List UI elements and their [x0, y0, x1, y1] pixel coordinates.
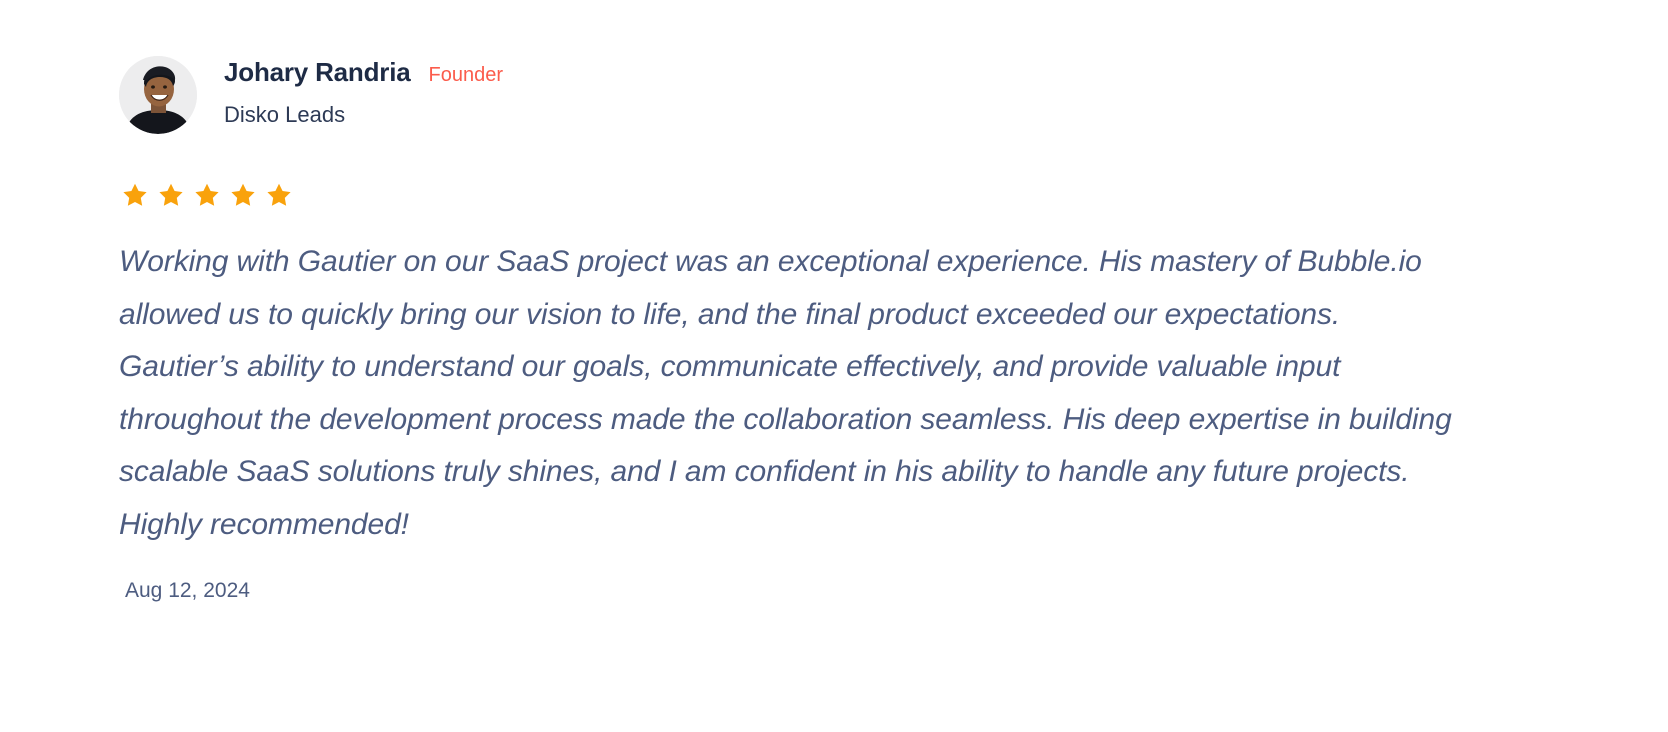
star-icon	[158, 182, 184, 208]
review-date: Aug 12, 2024	[125, 578, 250, 603]
name-row: Johary Randria Founder	[224, 58, 503, 87]
star-icon	[194, 182, 220, 208]
star-icon	[266, 182, 292, 208]
reviewer-company: Disko Leads	[224, 103, 503, 127]
reviewer-name: Johary Randria	[224, 58, 411, 87]
star-rating	[122, 182, 292, 208]
star-icon	[122, 182, 148, 208]
testimonial-card: Johary Randria Founder Disko Leads Worki…	[0, 0, 1668, 732]
avatar	[119, 56, 197, 134]
reviewer-role: Founder	[429, 64, 504, 86]
reviewer-header: Johary Randria Founder Disko Leads	[119, 55, 503, 134]
reviewer-identity: Johary Randria Founder Disko Leads	[224, 55, 503, 127]
star-icon	[230, 182, 256, 208]
testimonial-quote: Working with Gautier on our SaaS project…	[119, 236, 1464, 551]
